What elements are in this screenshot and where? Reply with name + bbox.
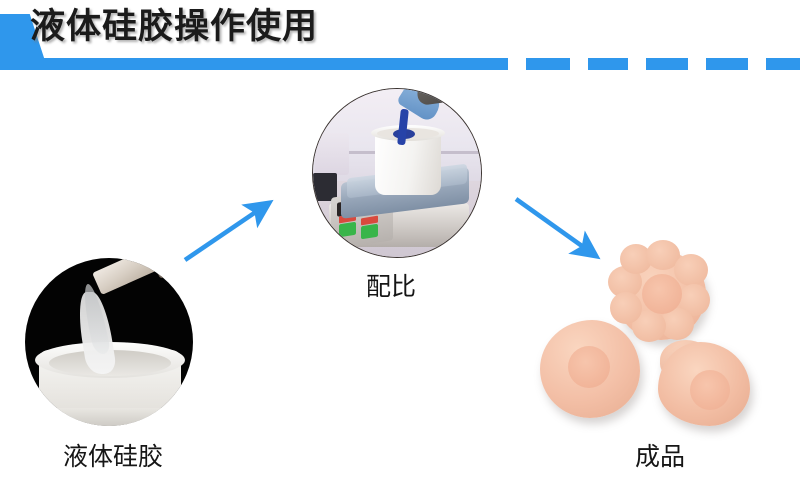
background-container	[315, 133, 349, 175]
product-round-shape	[540, 320, 640, 418]
product-center-dome	[568, 346, 610, 388]
product-heart-shape	[658, 342, 750, 426]
liquid-silicone-scene	[25, 258, 193, 426]
header-rule-dash	[766, 58, 800, 70]
header-rule-dash	[472, 58, 508, 70]
liquid-silicone-photo	[25, 258, 193, 426]
product-center-dome	[690, 370, 730, 410]
product-center-dome	[642, 274, 682, 314]
header-rule-dash	[706, 58, 748, 70]
caption-liquid-silicone: 液体硅胶	[63, 442, 163, 472]
caption-finished-product: 成品	[635, 442, 685, 472]
scale-button-green-1	[339, 222, 356, 238]
header-rule-dash	[646, 58, 688, 70]
header-rule-dash	[588, 58, 628, 70]
scale-button-green-2	[361, 224, 378, 240]
arrow-liquid-to-ratio-icon	[178, 190, 288, 270]
slide-header: 液体硅胶操作使用	[0, 0, 800, 78]
header-rule-dash	[526, 58, 570, 70]
product-flower-shape	[616, 250, 706, 340]
slide-canvas: 液体硅胶操作使用 液体硅胶	[0, 0, 800, 498]
finished-products-photo	[540, 248, 790, 438]
page-title: 液体硅胶操作使用	[30, 4, 318, 50]
header-rule-dashes	[472, 58, 800, 70]
flower-petal	[610, 292, 642, 324]
flower-petal	[674, 254, 708, 286]
header-rule-solid	[0, 58, 472, 70]
caption-ratio: 配比	[366, 272, 416, 302]
ratio-weighing-photo	[312, 88, 482, 258]
